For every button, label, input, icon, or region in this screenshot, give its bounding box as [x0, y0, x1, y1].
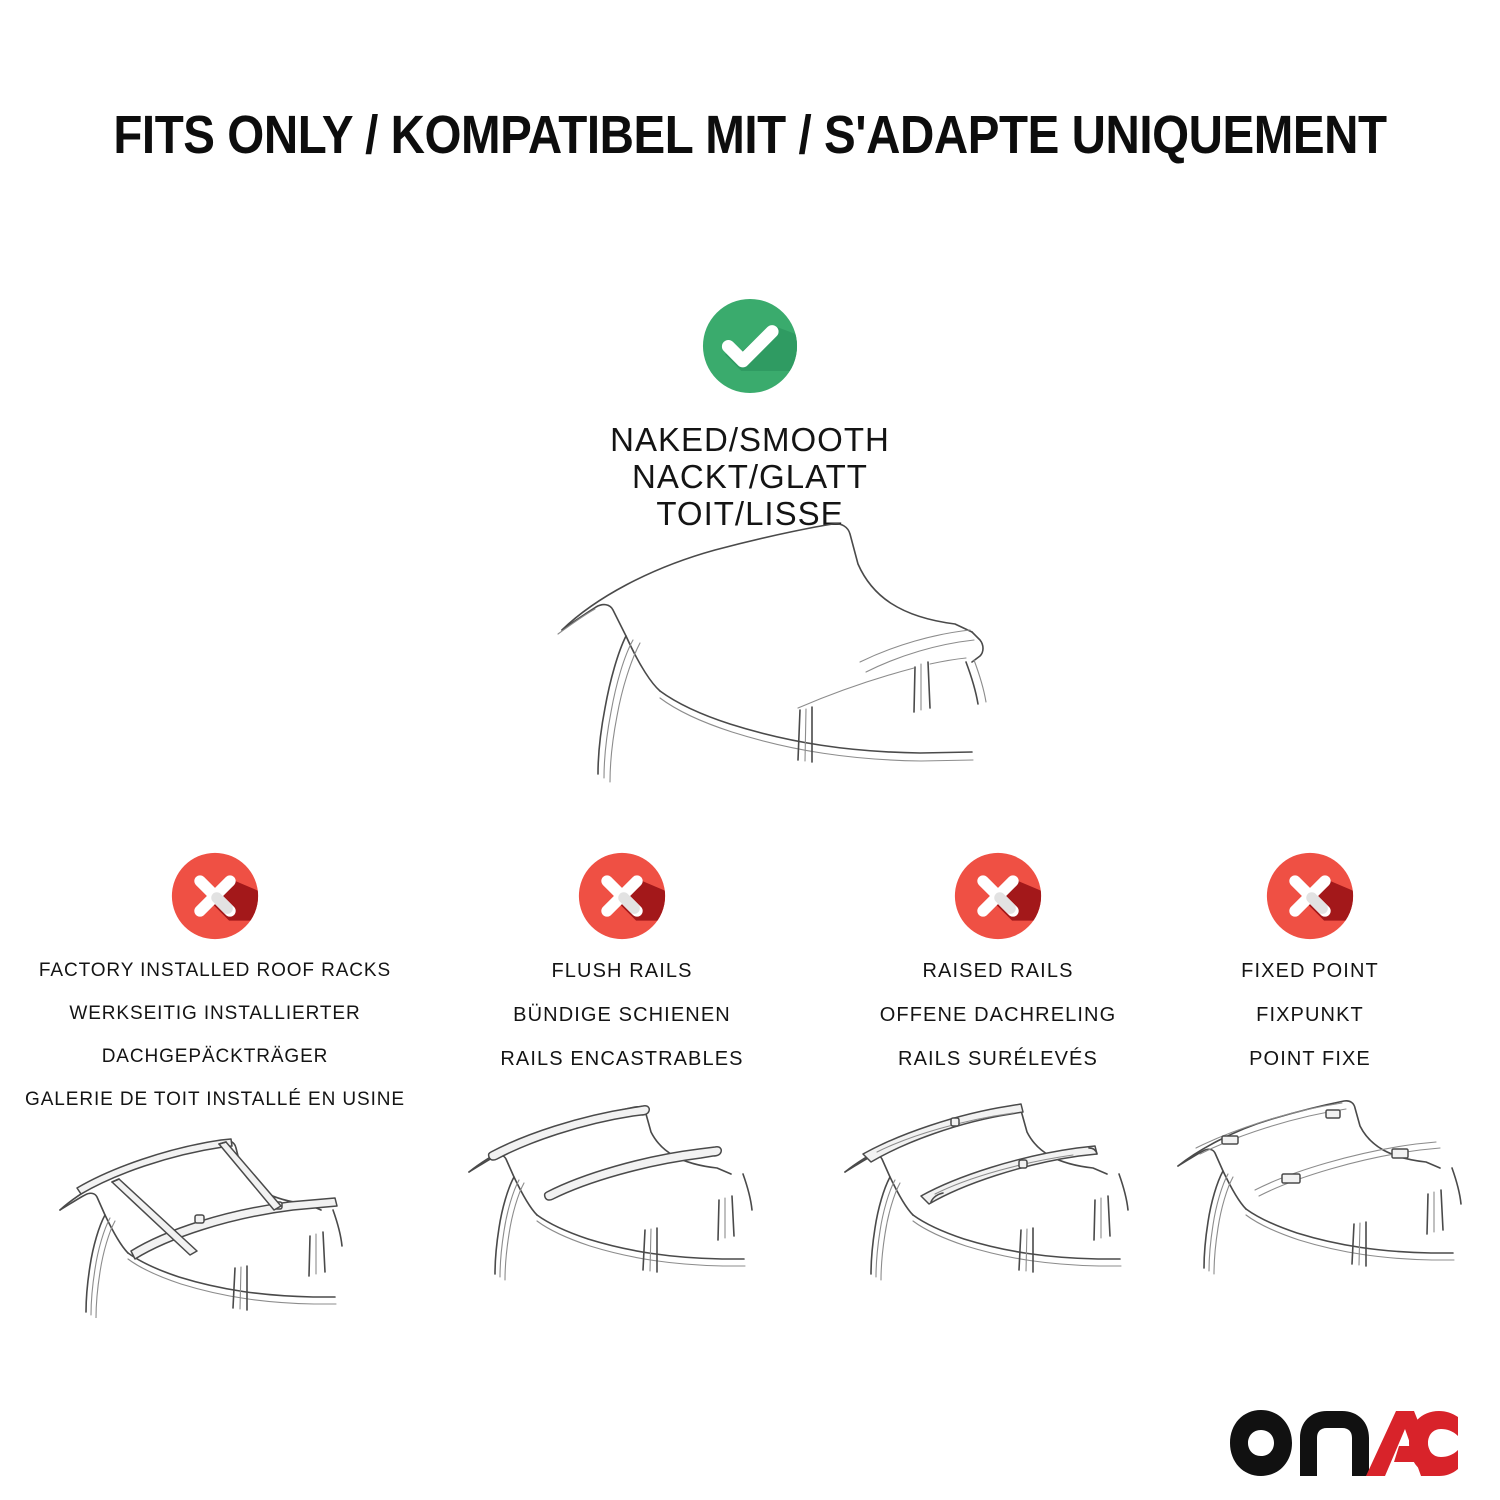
roof-with-factory-crossbars-illustration — [15, 1118, 415, 1318]
compatible-block: NAKED/SMOOTH NACKT/GLATT TOIT/LISSE — [450, 298, 1050, 532]
page-title: FITS ONLY / KOMPATIBEL MIT / S'ADAPTE UN… — [90, 104, 1410, 166]
label-line-4: GALERIE DE TOIT INSTALLÉ EN USINE — [15, 1087, 415, 1112]
smooth-roof-drawing — [500, 512, 1010, 792]
incompatible-raised-rails: RAISED RAILS OFFENE DACHRELING RAILS SUR… — [812, 852, 1184, 1284]
label-line-1: FLUSH RAILS — [432, 958, 812, 984]
check-circle-icon — [702, 298, 798, 394]
label-line-2: BÜNDIGE SCHIENEN — [432, 1002, 812, 1028]
smooth-roof-illustration — [500, 512, 1010, 792]
fixed-point-drawing — [1160, 1094, 1490, 1284]
incompatible-flush-rails: FLUSH RAILS BÜNDIGE SCHIENEN RAILS ENCAS… — [432, 852, 812, 1284]
roof-with-raised-rails-illustration — [812, 1094, 1184, 1284]
omac-logo — [1228, 1408, 1460, 1478]
x-circle-icon — [954, 852, 1042, 940]
label-line-3: RAILS SURÉLEVÉS — [812, 1046, 1184, 1072]
logo-letter-m — [1300, 1411, 1369, 1476]
compatible-label-line-1: NAKED/SMOOTH — [450, 421, 1050, 458]
roof-crossbars-drawing — [35, 1118, 395, 1318]
flush-rails-drawing — [447, 1094, 797, 1284]
label-line-1: FIXED POINT — [1160, 958, 1460, 984]
raised-rails-drawing — [823, 1094, 1173, 1284]
check-circle-icon-wrap — [702, 298, 798, 394]
roof-with-flush-rails-illustration — [432, 1094, 812, 1284]
label-line-1: FACTORY INSTALLED ROOF RACKS — [15, 958, 415, 983]
x-circle-icon — [1266, 852, 1354, 940]
label-line-3: POINT FIXE — [1160, 1046, 1460, 1072]
roof-with-fixed-points-illustration — [1160, 1094, 1460, 1284]
x-circle-icon — [171, 852, 259, 940]
logo-letter-o — [1230, 1410, 1292, 1476]
label-line-1: RAISED RAILS — [812, 958, 1184, 984]
label-line-2: FIXPUNKT — [1160, 1002, 1460, 1028]
incompatible-factory-installed-roof-racks: FACTORY INSTALLED ROOF RACKS WERKSEITIG … — [15, 852, 415, 1318]
compatible-label-line-2: NACKT/GLATT — [450, 458, 1050, 495]
label-line-2: WERKSEITIG INSTALLIERTER — [15, 1001, 415, 1026]
label-line-2: OFFENE DACHRELING — [812, 1002, 1184, 1028]
label-line-3: RAILS ENCASTRABLES — [432, 1046, 812, 1072]
incompatible-fixed-point: FIXED POINT FIXPUNKT POINT FIXE — [1160, 852, 1460, 1284]
label-line-3: DACHGEPÄCKTRÄGER — [15, 1044, 415, 1069]
omac-logo-mark — [1228, 1408, 1460, 1478]
fitment-guide-page: FITS ONLY / KOMPATIBEL MIT / S'ADAPTE UN… — [0, 0, 1500, 1500]
x-circle-icon — [578, 852, 666, 940]
